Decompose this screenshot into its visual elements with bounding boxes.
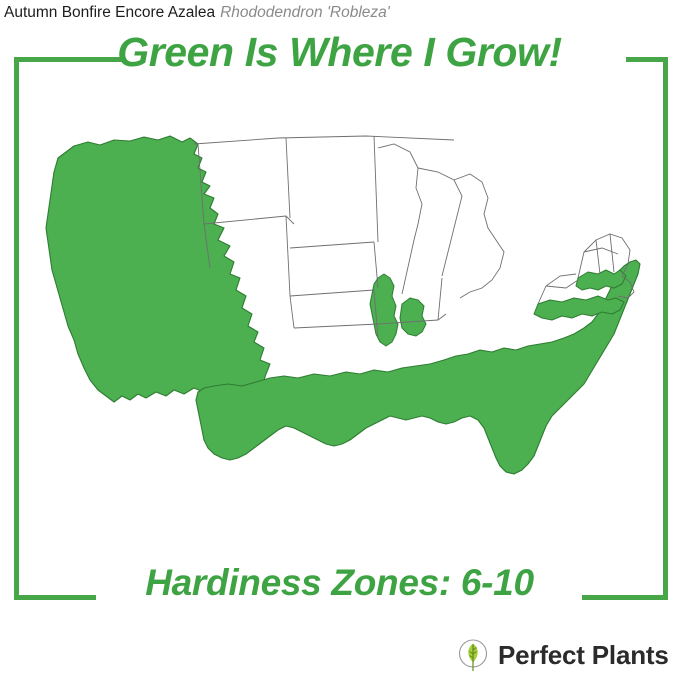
hardiness-zone-label: Hardiness Zones: 6-10 [0,561,679,605]
hardiness-zone-map [18,128,663,548]
plant-caption: Autumn Bonfire Encore AzaleaRhododendron… [4,2,675,24]
headline-text: Green Is Where I Grow! [0,28,679,76]
brand-name: Perfect Plants [498,637,669,673]
plant-botanical-name: Rhododendron 'Robleza' [220,4,390,21]
us-map-svg [18,128,663,548]
leaf-in-circle-icon [455,637,491,673]
frame-right-edge [663,57,668,600]
plant-common-name: Autumn Bonfire Encore Azalea [4,4,215,21]
brand-logo: Perfect Plants [455,636,677,674]
